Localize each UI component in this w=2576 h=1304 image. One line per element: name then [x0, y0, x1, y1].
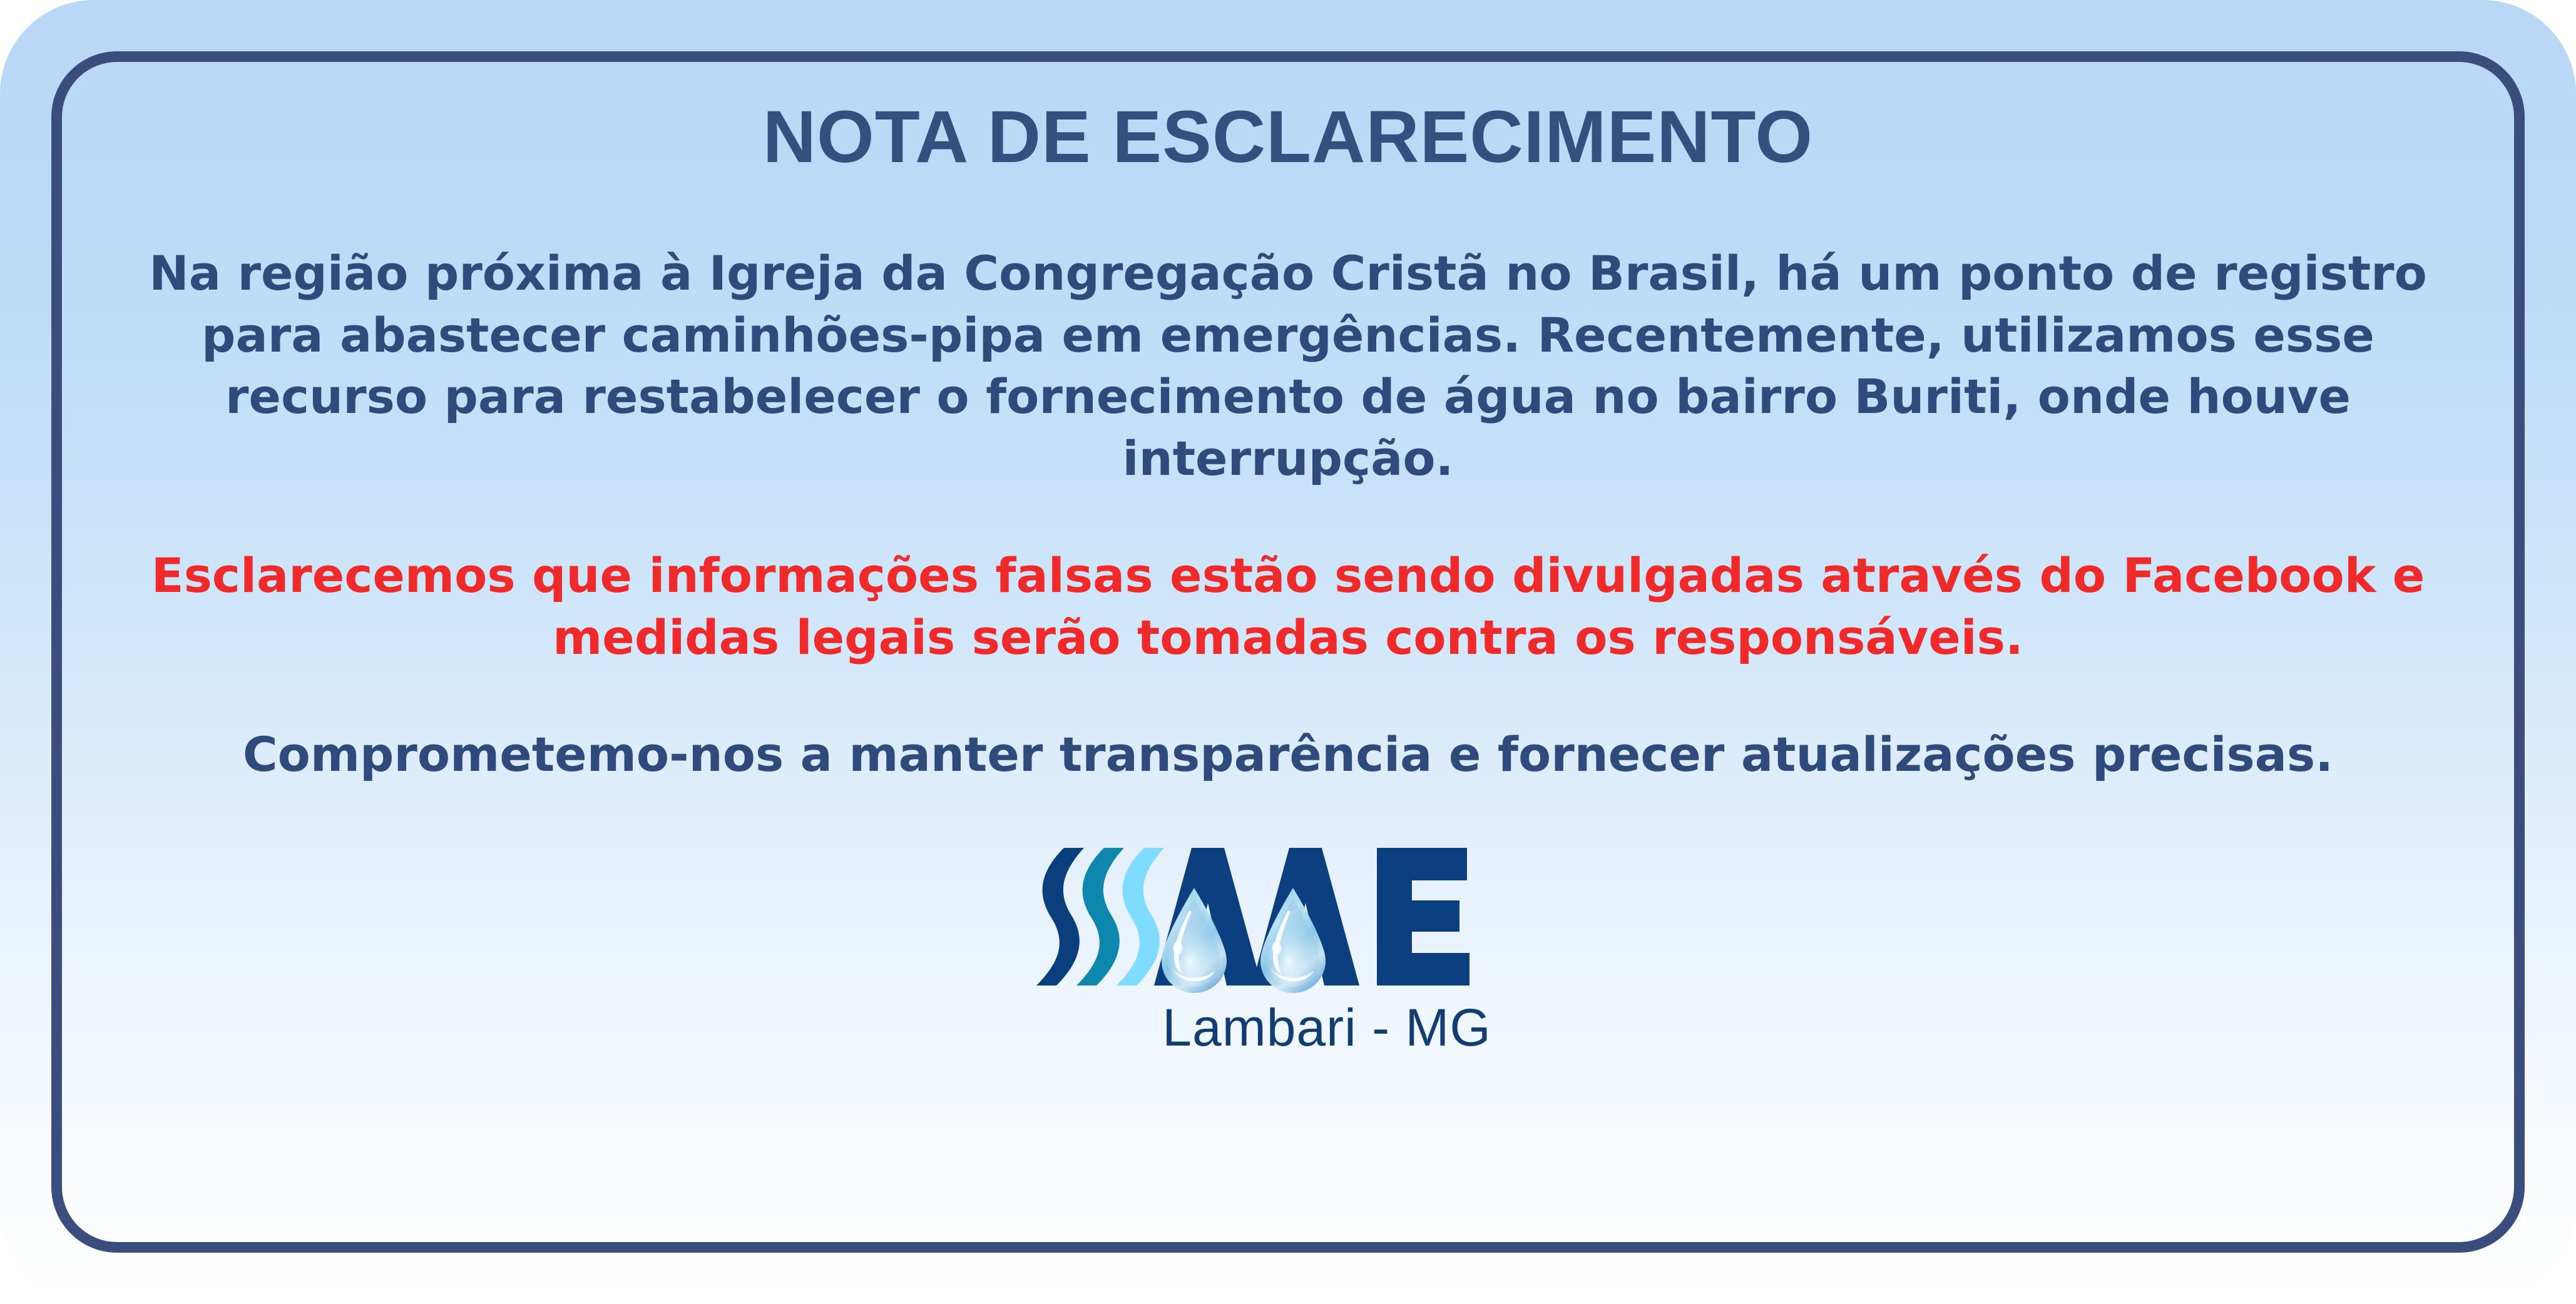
saae-lambari-logo: Lambari - MG [1019, 833, 1557, 1058]
logo-block: Lambari - MG [81, 833, 2495, 1058]
paragraph-intro: Na região próxima à Igreja da Congregaçã… [81, 243, 2495, 490]
paragraph-commitment: Comprometemo-nos a manter transparência … [81, 724, 2495, 786]
paragraph-warning: Esclarecemos que informações falsas estã… [81, 545, 2495, 669]
logo-subtitle: Lambari - MG [1162, 998, 1491, 1057]
notice-content: NOTA DE ESCLARECIMENTO Na região próxima… [81, 69, 2495, 1235]
wave-strokes-icon [1036, 848, 1164, 986]
notice-card: NOTA DE ESCLARECIMENTO Na região próxima… [0, 0, 2576, 1304]
page-title: NOTA DE ESCLARECIMENTO [81, 69, 2495, 176]
